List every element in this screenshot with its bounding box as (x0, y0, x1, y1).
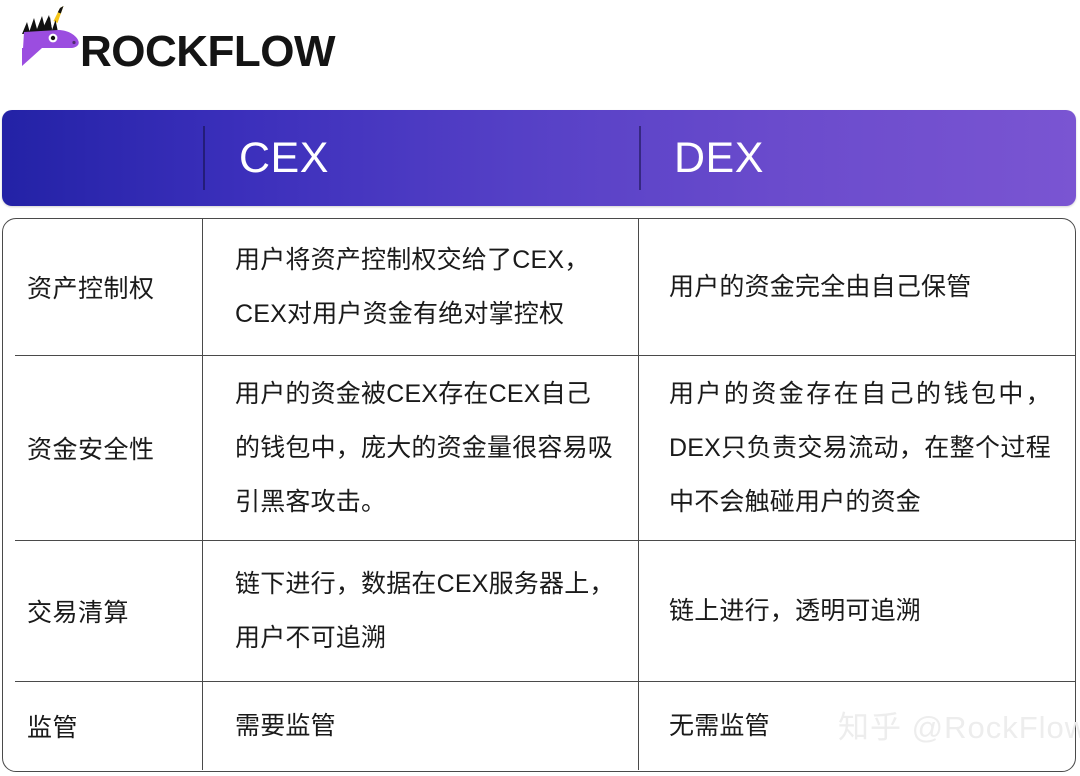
row-cex-cell: 需要监管 (202, 681, 638, 770)
header-cell-blank (2, 110, 203, 206)
row-dex-text: 链上进行，透明可追溯 (669, 584, 1051, 638)
row-dex-text: 无需监管 (669, 699, 1051, 753)
row-label: 监管 (3, 681, 202, 770)
row-label-text: 资产控制权 (27, 269, 202, 305)
row-label-text: 监管 (27, 708, 202, 744)
row-label: 资金安全性 (3, 355, 202, 540)
row-dex-cell: 用户的资金存在自己的钱包中，DEX只负责交易流动，在整个过程中不会触碰用户的资金 (638, 355, 1075, 540)
row-label-text: 资金安全性 (27, 430, 202, 466)
row-label: 交易清算 (3, 540, 202, 681)
table-row: 资产控制权 用户将资产控制权交给了CEX，CEX对用户资金有绝对掌控权 用户的资… (3, 219, 1075, 355)
row-cex-text: 用户将资产控制权交给了CEX，CEX对用户资金有绝对掌控权 (235, 233, 616, 341)
comparison-table: 资产控制权 用户将资产控制权交给了CEX，CEX对用户资金有绝对掌控权 用户的资… (2, 218, 1076, 772)
row-cex-cell: 用户的资金被CEX存在CEX自己的钱包中，庞大的资金量很容易吸引黑客攻击。 (202, 355, 638, 540)
unicorn-head-icon (8, 4, 84, 80)
table-row: 监管 需要监管 无需监管 (3, 681, 1075, 770)
header-divider-2 (639, 126, 641, 190)
table-row: 资金安全性 用户的资金被CEX存在CEX自己的钱包中，庞大的资金量很容易吸引黑客… (3, 355, 1075, 540)
row-cex-text: 链下进行，数据在CEX服务器上，用户不可追溯 (235, 557, 616, 665)
row-dex-text: 用户的资金完全由自己保管 (669, 260, 1051, 314)
row-dex-cell: 用户的资金完全由自己保管 (638, 219, 1075, 355)
row-dex-cell: 链上进行，透明可追溯 (638, 540, 1075, 681)
row-dex-cell: 无需监管 (638, 681, 1075, 770)
table-header-bar: CEX DEX (2, 110, 1076, 206)
row-dex-text: 用户的资金存在自己的钱包中，DEX只负责交易流动，在整个过程中不会触碰用户的资金 (669, 367, 1051, 529)
row-cex-text: 用户的资金被CEX存在CEX自己的钱包中，庞大的资金量很容易吸引黑客攻击。 (235, 367, 616, 529)
brand-wordmark: ROCKFLOW (80, 24, 335, 80)
page-root: ROCKFLOW CEX DEX 资产控制权 用户将资产控制权交给了CEX，CE… (0, 0, 1080, 776)
table-row: 交易清算 链下进行，数据在CEX服务器上，用户不可追溯 链上进行，透明可追溯 (3, 540, 1075, 681)
header-divider-1 (203, 126, 205, 190)
row-label-text: 交易清算 (27, 593, 202, 629)
row-cex-cell: 用户将资产控制权交给了CEX，CEX对用户资金有绝对掌控权 (202, 219, 638, 355)
row-label: 资产控制权 (3, 219, 202, 355)
row-cex-cell: 链下进行，数据在CEX服务器上，用户不可追溯 (202, 540, 638, 681)
brand-logo: ROCKFLOW (6, 4, 426, 90)
header-cell-dex: DEX (674, 110, 1054, 206)
header-cell-cex: CEX (239, 110, 639, 206)
row-cex-text: 需要监管 (235, 699, 616, 753)
